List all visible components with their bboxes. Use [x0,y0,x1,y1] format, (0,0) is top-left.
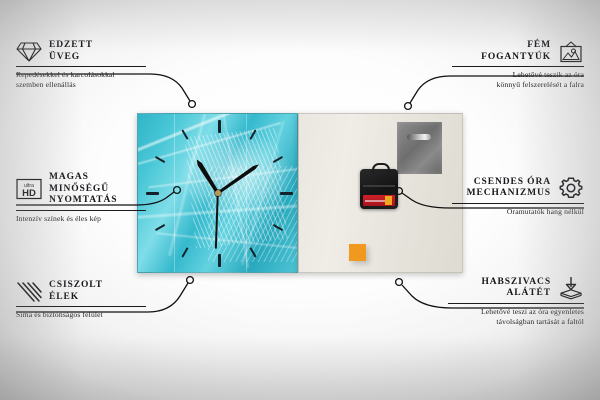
divider [452,66,584,67]
feature-subtitle: könnyű felszerelését a falra [452,80,584,90]
feature-title: MAGAS MINŐSÉGŰ NYOMTATÁS [49,172,146,207]
battery-stripe [365,200,385,202]
clock-mechanism [360,169,398,209]
foam-pad [349,244,366,261]
gear-icon [558,176,584,200]
feature-subtitle: Lehetővé teszik az óra [452,70,584,80]
diamond-icon [16,41,42,63]
svg-text:HD: HD [22,188,36,199]
feature-header: HABSZIVACS ALÁTÉT [448,276,584,300]
feature-subtitle: Sima és biztonságos felület [16,310,146,320]
feature-subtitle: Lehetővé teszi az óra egyenletes [448,307,584,317]
mechanism-loop [372,163,390,174]
feature-foam-backing[interactable]: HABSZIVACS ALÁTÉT Lehetővé teszi az óra … [448,276,584,326]
feature-subtitle: Intenzív színek és éles kép [16,214,146,224]
product-images [137,113,463,273]
hanger-slot [407,134,431,140]
feature-subtitle: Repedésekkel és karcolásokkal [16,70,146,80]
clock-back-view [298,113,463,273]
hour-hand [194,158,219,195]
feature-header: CSENDES ÓRA MECHANIZMUS [452,176,584,200]
feature-title: FÉM FOGANTYÚK [481,40,551,63]
infographic-canvas: EDZETT ÜVEG Repedésekkel és karcolásokka… [0,0,600,400]
feature-header: FÉM FOGANTYÚK [452,40,584,63]
feature-metal-handles[interactable]: FÉM FOGANTYÚK Lehetővé teszik az óra kön… [452,40,584,89]
foam-pad-icon [558,276,584,300]
polished-edges-icon [16,281,42,303]
feature-title: HABSZIVACS ALÁTÉT [481,277,551,300]
feature-title: EDZETT ÜVEG [49,40,93,63]
divider [452,203,584,204]
divider [16,306,146,307]
feature-title: CSISZOLT ÉLEK [49,280,103,303]
clock-front-view [137,113,298,273]
second-hand [215,193,219,249]
metal-hanger [397,122,442,174]
feature-subtitle: szemben ellenállás [16,80,146,90]
feature-subtitle: Óramutatók hang nélkül [452,207,584,217]
feature-title: CSENDES ÓRA MECHANIZMUS [467,177,551,200]
feature-tempered-glass[interactable]: EDZETT ÜVEG Repedésekkel és karcolásokka… [16,40,146,89]
divider [448,303,584,304]
feature-polished-edges[interactable]: CSISZOLT ÉLEK Sima és biztonságos felüle… [16,280,146,320]
feature-high-quality-print[interactable]: ultra HD MAGAS MINŐSÉGŰ NYOMTATÁS Intenz… [16,172,146,223]
feature-subtitle: távolságban tartását a faltól [448,317,584,327]
divider [16,66,146,67]
feature-header: EDZETT ÜVEG [16,40,146,63]
ultra-hd-icon: ultra HD [16,178,42,200]
mechanism-seam [363,185,395,187]
minute-hand [216,163,259,195]
feature-silent-mechanism[interactable]: CSENDES ÓRA MECHANIZMUS Óramutatók hang … [452,176,584,217]
battery-terminal [385,196,392,205]
hand-center-cap [215,190,221,196]
clock-hands [138,114,297,272]
picture-hanger-icon [558,41,584,63]
feature-header: CSISZOLT ÉLEK [16,280,146,303]
feature-header: ultra HD MAGAS MINŐSÉGŰ NYOMTATÁS [16,172,146,207]
divider [16,210,146,211]
battery [363,195,395,206]
